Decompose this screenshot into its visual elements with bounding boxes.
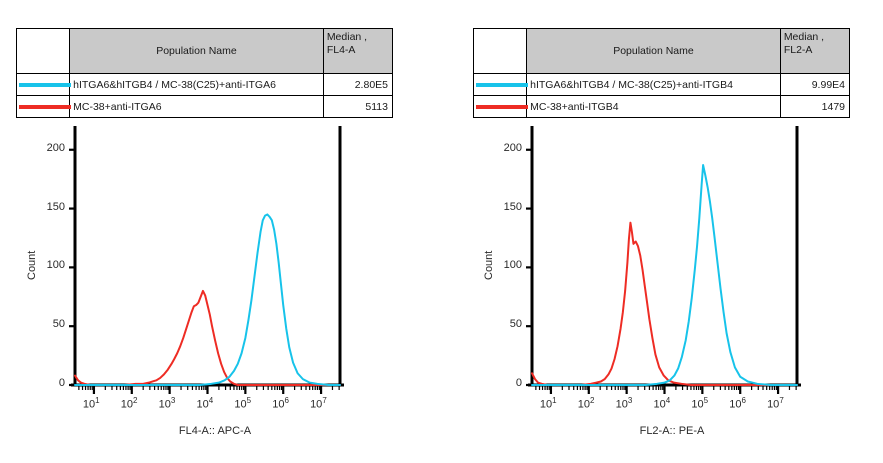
x-axis-tick-label: 102	[578, 396, 595, 411]
legend-header-swatch	[17, 29, 70, 74]
histogram-curve	[532, 223, 797, 385]
y-axis-tick-label: 0	[19, 377, 65, 389]
legend-row-cyan: hITGA6&hITGB4 / MC-38(C25)+anti-ITGA6 2.…	[17, 74, 393, 96]
y-axis-tick-label: 100	[19, 259, 65, 271]
y-axis-tick-label: 150	[476, 201, 522, 213]
histogram-curve	[75, 214, 340, 385]
x-axis-tick-label: 103	[616, 396, 633, 411]
y-axis-tick-label: 200	[476, 142, 522, 154]
y-axis-tick-label: 50	[476, 318, 522, 330]
histogram-svg-left	[0, 120, 441, 463]
y-axis-tick-label: 0	[476, 377, 522, 389]
histogram-plot-left: Count FL4-A:: APC-A 05010015020010110210…	[0, 120, 441, 463]
legend-row-red: MC-38+anti-ITGA6 5113	[17, 96, 393, 118]
legend-median-value-red: 5113	[323, 96, 392, 118]
legend-median-value-cyan: 2.80E5	[323, 74, 392, 96]
y-axis-tick-label: 150	[19, 201, 65, 213]
x-axis-tick-label: 101	[540, 396, 557, 411]
legend-header-row: Population Name Median , FL4-A	[17, 29, 393, 74]
legend-swatch-cell-red	[474, 96, 527, 118]
panel-left: Population Name Median , FL4-A hITGA6&hI…	[0, 0, 441, 463]
legend-header-population-name: Population Name	[70, 29, 324, 74]
legend-color-swatch-red	[19, 105, 71, 109]
x-axis-tick-label: 107	[767, 396, 784, 411]
x-axis-tick-label: 104	[197, 396, 214, 411]
legend-header-median: Median , FL2-A	[780, 29, 849, 74]
legend-population-name-cyan: hITGA6&hITGB4 / MC-38(C25)+anti-ITGA6	[70, 74, 324, 96]
x-axis-label-left: FL4-A:: APC-A	[80, 425, 350, 437]
panel-right: Population Name Median , FL2-A hITGA6&hI…	[441, 0, 882, 463]
x-axis-label-right: FL2-A:: PE-A	[537, 425, 807, 437]
legend-color-swatch-cyan	[19, 83, 71, 87]
legend-row-cyan: hITGA6&hITGB4 / MC-38(C25)+anti-ITGB4 9.…	[474, 74, 850, 96]
legend-swatch-cell-cyan	[17, 74, 70, 96]
x-axis-tick-label: 102	[121, 396, 138, 411]
legend-population-name-red: MC-38+anti-ITGA6	[70, 96, 324, 118]
histogram-plot-right: Count FL2-A:: PE-A 050100150200101102103…	[441, 120, 882, 463]
legend-header-swatch	[474, 29, 527, 74]
legend-population-name-red: MC-38+anti-ITGB4	[527, 96, 781, 118]
legend-color-swatch-cyan	[476, 83, 528, 87]
legend-swatch-cell-cyan	[474, 74, 527, 96]
legend-color-swatch-red	[476, 105, 528, 109]
y-axis-tick-label: 200	[19, 142, 65, 154]
legend-header-median-line1: Median ,	[784, 31, 849, 44]
x-axis-tick-label: 105	[691, 396, 708, 411]
x-axis-tick-label: 107	[310, 396, 327, 411]
legend-header-row: Population Name Median , FL2-A	[474, 29, 850, 74]
x-axis-tick-label: 101	[83, 396, 100, 411]
histogram-curve	[75, 291, 340, 385]
legend-swatch-cell-red	[17, 96, 70, 118]
x-axis-tick-label: 103	[159, 396, 176, 411]
x-axis-tick-label: 105	[234, 396, 251, 411]
x-axis-tick-label: 106	[729, 396, 746, 411]
histogram-curve	[532, 165, 797, 385]
legend-header-median-line2: FL4-A	[327, 44, 392, 57]
legend-median-value-cyan: 9.99E4	[780, 74, 849, 96]
y-axis-tick-label: 50	[19, 318, 65, 330]
legend-header-median-line1: Median ,	[327, 31, 392, 44]
legend-header-median: Median , FL4-A	[323, 29, 392, 74]
legend-row-red: MC-38+anti-ITGB4 1479	[474, 96, 850, 118]
legend-header-median-line2: FL2-A	[784, 44, 849, 57]
x-axis-tick-label: 104	[654, 396, 671, 411]
histogram-svg-right	[441, 120, 882, 463]
legend-table-right: Population Name Median , FL2-A hITGA6&hI…	[473, 28, 850, 118]
legend-header-population-name: Population Name	[527, 29, 781, 74]
legend-median-value-red: 1479	[780, 96, 849, 118]
legend-population-name-cyan: hITGA6&hITGB4 / MC-38(C25)+anti-ITGB4	[527, 74, 781, 96]
x-axis-tick-label: 106	[272, 396, 289, 411]
legend-table-left: Population Name Median , FL4-A hITGA6&hI…	[16, 28, 393, 118]
y-axis-tick-label: 100	[476, 259, 522, 271]
